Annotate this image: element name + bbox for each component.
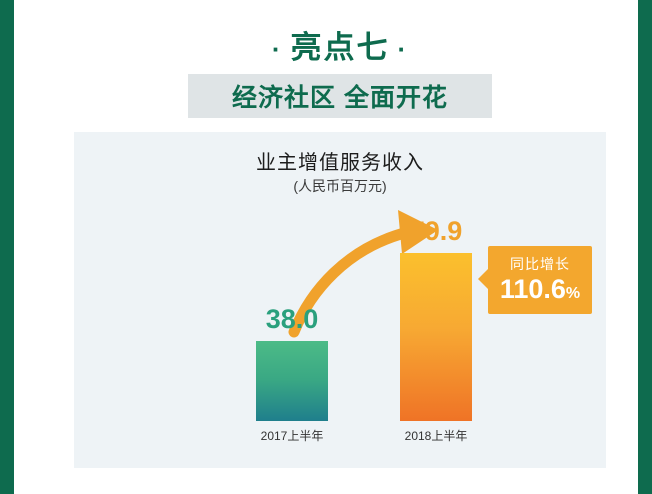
bar-category-2018: 2018上半年 bbox=[378, 427, 494, 444]
bar-2017 bbox=[256, 341, 328, 421]
chart-panel: 业主增值服务收入 (人民币百万元) 38.0 2017上半年 79.9 2018… bbox=[74, 132, 606, 468]
title-text: 亮点七 bbox=[291, 30, 390, 65]
bar-value-2018: 79.9 bbox=[378, 216, 494, 247]
chart-title: 业主增值服务收入 bbox=[74, 146, 606, 175]
chart-unit-label: (人民币百万元) bbox=[74, 176, 606, 196]
bar-value-2017: 38.0 bbox=[234, 304, 350, 335]
growth-callout: 同比增长 110.6% bbox=[488, 246, 592, 314]
title-dot-right: · bbox=[390, 34, 417, 64]
growth-callout-number: 110.6 bbox=[500, 274, 566, 304]
growth-callout-label: 同比增长 bbox=[488, 254, 592, 274]
page-title: ·亮点七· bbox=[28, 22, 652, 67]
page-inner: ·亮点七· 经济社区 全面开花 业主增值服务收入 (人民币百万元) 38.0 2… bbox=[28, 0, 652, 494]
growth-callout-unit: % bbox=[566, 285, 580, 302]
subtitle-banner: 经济社区 全面开花 bbox=[188, 74, 492, 118]
title-dot-left: · bbox=[264, 34, 291, 64]
growth-callout-value: 110.6% bbox=[488, 273, 592, 310]
subtitle-banner-text: 经济社区 全面开花 bbox=[232, 78, 448, 114]
bar-2018 bbox=[400, 253, 472, 421]
bar-category-2017: 2017上半年 bbox=[234, 427, 350, 444]
page-frame: ·亮点七· 经济社区 全面开花 业主增值服务收入 (人民币百万元) 38.0 2… bbox=[0, 0, 652, 494]
